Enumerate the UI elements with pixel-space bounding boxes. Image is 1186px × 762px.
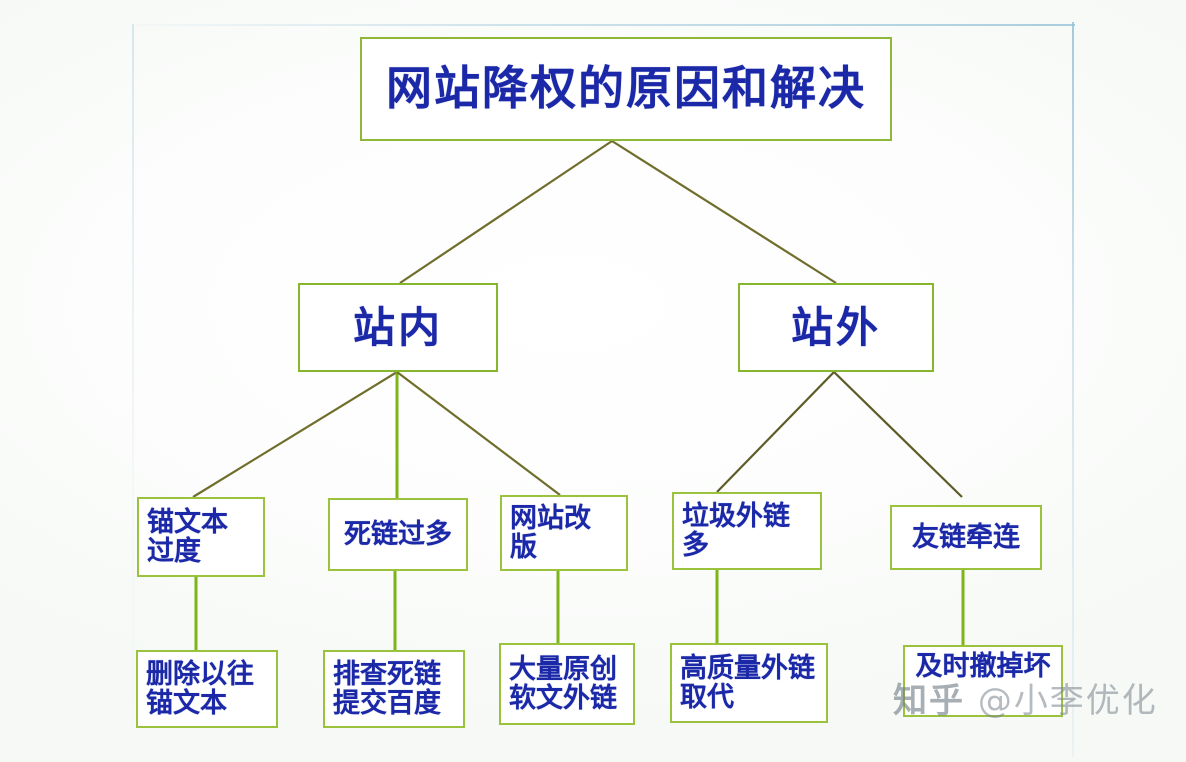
node-delete-previous-anchor[interactable]: 删除以往 锚文本 <box>136 650 278 728</box>
watermark-site: 知乎 <box>893 681 965 721</box>
node-friend-link-implication[interactable]: 友链牵连 <box>890 505 1042 570</box>
link-right-to-friendlinks <box>834 372 962 497</box>
link-root-to-left <box>400 141 612 283</box>
node-spam-external-links[interactable]: 垃圾外链 多 <box>672 492 822 570</box>
mindmap-canvas: 网站降权的原因和解决 站内 站外 锚文本 过度 死链过多 网站改 版 垃圾外链 … <box>0 0 1186 762</box>
node-root[interactable]: 网站降权的原因和解决 <box>360 37 892 141</box>
link-root-to-right <box>612 141 836 283</box>
link-left-to-anchor <box>193 372 397 497</box>
node-high-quality-links-replace-label: 高质量外链 取代 <box>680 654 815 712</box>
canvas-edge-left <box>132 24 134 752</box>
node-branch-offsite[interactable]: 站外 <box>738 283 934 372</box>
node-high-quality-links-replace[interactable]: 高质量外链 取代 <box>670 643 828 723</box>
canvas-edge-top <box>133 24 1075 26</box>
link-right-to-spam <box>717 372 834 492</box>
node-branch-offsite-label: 站外 <box>791 305 881 350</box>
node-friend-link-implication-label: 友链牵连 <box>912 523 1020 552</box>
node-check-dead-links-submit-baidu-label: 排查死链 提交百度 <box>333 660 441 718</box>
node-website-redesign-label: 网站改 版 <box>510 504 591 562</box>
watermark-handle: @小李优化 <box>978 681 1158 721</box>
node-branch-onsite-label: 站内 <box>353 305 443 350</box>
node-anchor-text-excess-label: 锚文本 过度 <box>147 508 228 566</box>
node-root-label: 网站降权的原因和解决 <box>386 64 866 114</box>
node-delete-previous-anchor-label: 删除以往 锚文本 <box>146 660 254 718</box>
node-website-redesign[interactable]: 网站改 版 <box>500 495 628 571</box>
canvas-edge-right <box>1072 22 1074 757</box>
node-branch-onsite[interactable]: 站内 <box>298 283 498 372</box>
node-dead-links-many[interactable]: 死链过多 <box>328 498 468 571</box>
node-spam-external-links-label: 垃圾外链 多 <box>682 502 790 560</box>
link-left-to-redesign <box>397 372 560 495</box>
watermark: 知乎 @小李优化 <box>893 673 1158 722</box>
node-dead-links-many-label: 死链过多 <box>344 520 452 549</box>
node-anchor-text-excess[interactable]: 锚文本 过度 <box>137 497 265 577</box>
node-check-dead-links-submit-baidu[interactable]: 排查死链 提交百度 <box>323 650 465 728</box>
node-original-soft-article-links[interactable]: 大量原创 软文外链 <box>499 643 635 725</box>
node-original-soft-article-links-label: 大量原创 软文外链 <box>509 655 617 713</box>
